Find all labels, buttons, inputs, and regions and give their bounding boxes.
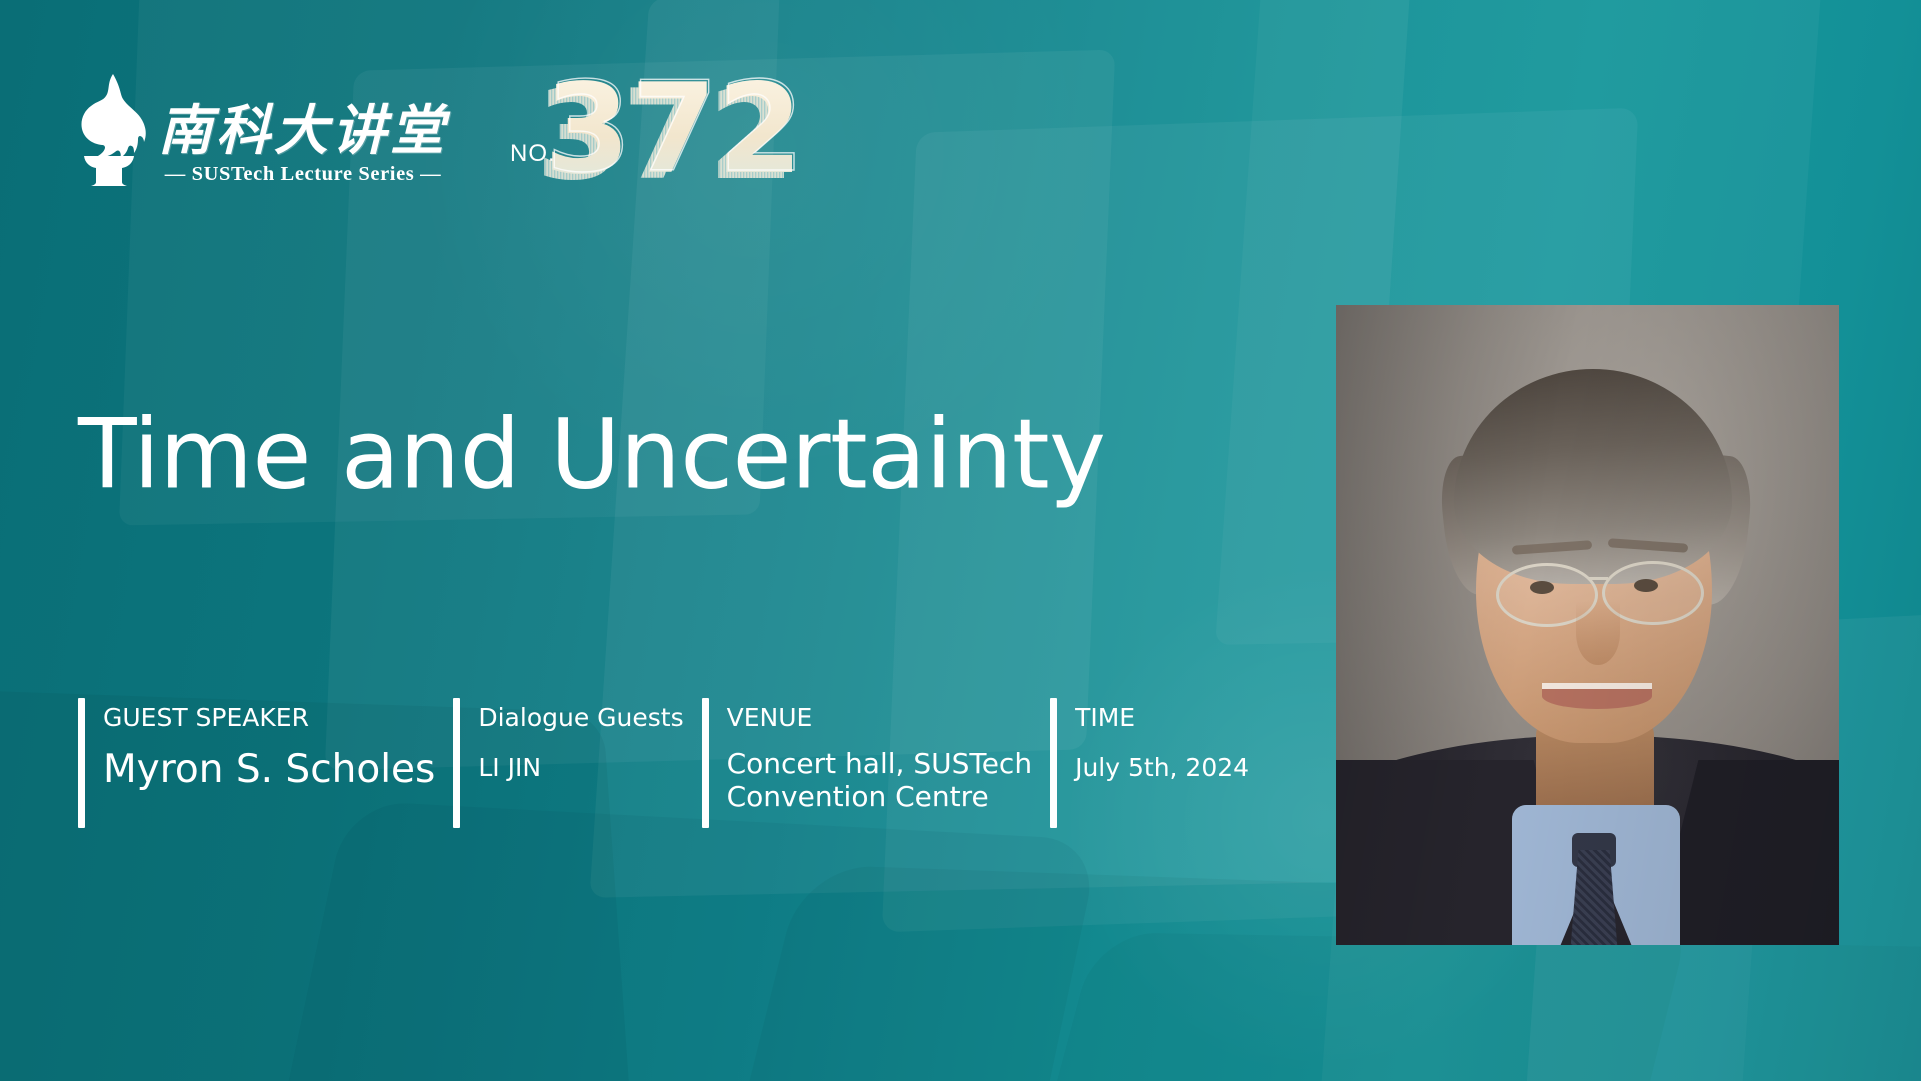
- info-label-guest-speaker: GUEST SPEAKER: [103, 702, 435, 733]
- sustech-lecture-logo: 南科大讲堂 — SUSTech Lecture Series —: [72, 68, 448, 186]
- svg-text:372: 372: [546, 58, 796, 200]
- divider-bar: [702, 698, 709, 828]
- info-block-venue: VENUE Concert hall, SUSTech Convention C…: [702, 698, 1032, 828]
- info-value-guest-speaker: Myron S. Scholes: [103, 747, 435, 793]
- lecture-poster: 南科大讲堂 — SUSTech Lecture Series — NO.: [0, 0, 1921, 1081]
- info-row: GUEST SPEAKER Myron S. Scholes Dialogue …: [78, 698, 1249, 828]
- info-label-venue: VENUE: [727, 702, 1032, 733]
- logo-text-block: 南科大讲堂 — SUSTech Lecture Series —: [158, 103, 448, 186]
- info-block-guest-speaker: GUEST SPEAKER Myron S. Scholes: [78, 698, 435, 828]
- info-label-time: TIME: [1075, 702, 1249, 733]
- speaker-portrait: [1336, 305, 1839, 945]
- info-value-venue: Concert hall, SUSTech Convention Centre: [727, 747, 1032, 813]
- divider-bar: [453, 698, 460, 828]
- divider-bar: [1050, 698, 1057, 828]
- logo-english-name: — SUSTech Lecture Series —: [165, 163, 441, 186]
- info-value-dialogue-guests: LI JIN: [478, 753, 683, 783]
- logo-chinese-name: 南科大讲堂: [158, 103, 448, 157]
- poster-header: 南科大讲堂 — SUSTech Lecture Series — NO.: [72, 68, 556, 186]
- page-title: Time and Uncertainty: [78, 405, 1105, 506]
- divider-bar: [78, 698, 85, 828]
- info-block-dialogue-guests: Dialogue Guests LI JIN: [453, 698, 683, 828]
- info-block-time: TIME July 5th, 2024: [1050, 698, 1249, 828]
- portrait-shading: [1336, 305, 1839, 945]
- torch-icon: [72, 68, 146, 186]
- info-label-dialogue-guests: Dialogue Guests: [478, 702, 683, 733]
- info-value-time: July 5th, 2024: [1075, 753, 1249, 783]
- issue-number: 372 372 372: [536, 58, 796, 218]
